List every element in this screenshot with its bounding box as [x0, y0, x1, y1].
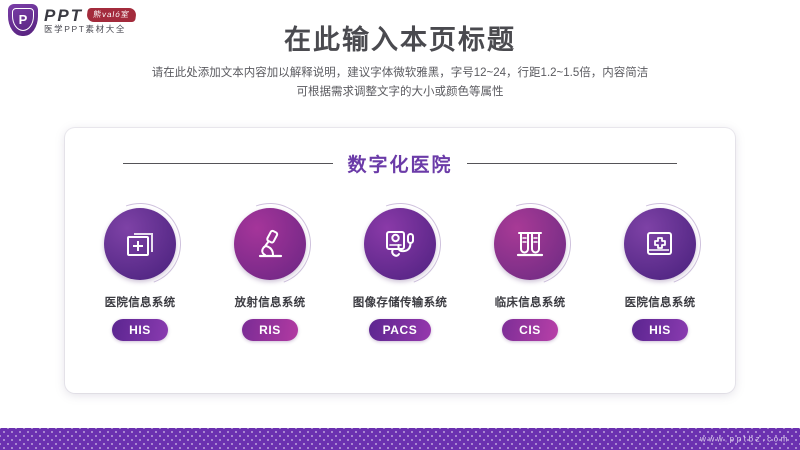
system-item[interactable]: 临床信息系统CIS: [467, 208, 593, 341]
item-badge[interactable]: CIS: [502, 319, 558, 341]
divider-line-right: [467, 163, 677, 164]
item-label: 医院信息系统: [625, 294, 696, 310]
icon-circle-wrap: [364, 208, 436, 280]
item-label: 图像存储传输系统: [353, 294, 447, 310]
system-item[interactable]: 图像存储传输系统PACS: [337, 208, 463, 341]
item-label: 放射信息系统: [235, 294, 306, 310]
system-item[interactable]: 医院信息系统HIS: [597, 208, 723, 341]
icon-circle[interactable]: [234, 208, 306, 280]
card-title: 数字化医院: [347, 150, 452, 177]
shield-letter: P: [19, 13, 28, 26]
subtitle-line-1: 请在此处添加文本内容加以解释说明，建议字体微软雅黑，字号12~24，行距1.2~…: [0, 64, 800, 83]
icon-circle-wrap: [234, 208, 306, 280]
divider-line-left: [123, 163, 333, 164]
icon-circle[interactable]: [624, 208, 696, 280]
card-header: 数字化医院: [65, 150, 735, 177]
footer-url: www.pptbz.com: [700, 435, 790, 444]
page-subtitle: 请在此处添加文本内容加以解释说明，建议字体微软雅黑，字号12~24，行距1.2~…: [0, 64, 800, 102]
icon-circle-wrap: [104, 208, 176, 280]
item-label: 医院信息系统: [105, 294, 176, 310]
icon-circle[interactable]: [364, 208, 436, 280]
item-badge[interactable]: RIS: [242, 319, 298, 341]
icon-circle[interactable]: [104, 208, 176, 280]
footer-bar: www.pptbz.com: [0, 428, 800, 450]
system-item[interactable]: 放射信息系统RIS: [207, 208, 333, 341]
page-title: 在此输入本页标题: [0, 18, 800, 57]
icon-circle-wrap: [494, 208, 566, 280]
microscope-icon: [252, 226, 288, 262]
subtitle-line-2: 可根据需求调整文字的大小或颜色等属性: [0, 83, 800, 102]
item-badge[interactable]: HIS: [112, 319, 168, 341]
medical-book-icon: [642, 226, 678, 262]
icon-circle-wrap: [624, 208, 696, 280]
item-badge[interactable]: HIS: [632, 319, 688, 341]
hospital-cross-frame-icon: [122, 226, 158, 262]
content-card: 数字化医院 医院信息系统HIS放射信息系统RIS图像存储传输系统PACS临床信息…: [65, 128, 735, 393]
item-label: 临床信息系统: [495, 294, 566, 310]
system-item-list: 医院信息系统HIS放射信息系统RIS图像存储传输系统PACS临床信息系统CIS医…: [77, 208, 723, 341]
medical-monitor-icon: [382, 226, 418, 262]
system-item[interactable]: 医院信息系统HIS: [77, 208, 203, 341]
test-tubes-icon: [512, 226, 548, 262]
item-badge[interactable]: PACS: [369, 319, 432, 341]
icon-circle[interactable]: [494, 208, 566, 280]
